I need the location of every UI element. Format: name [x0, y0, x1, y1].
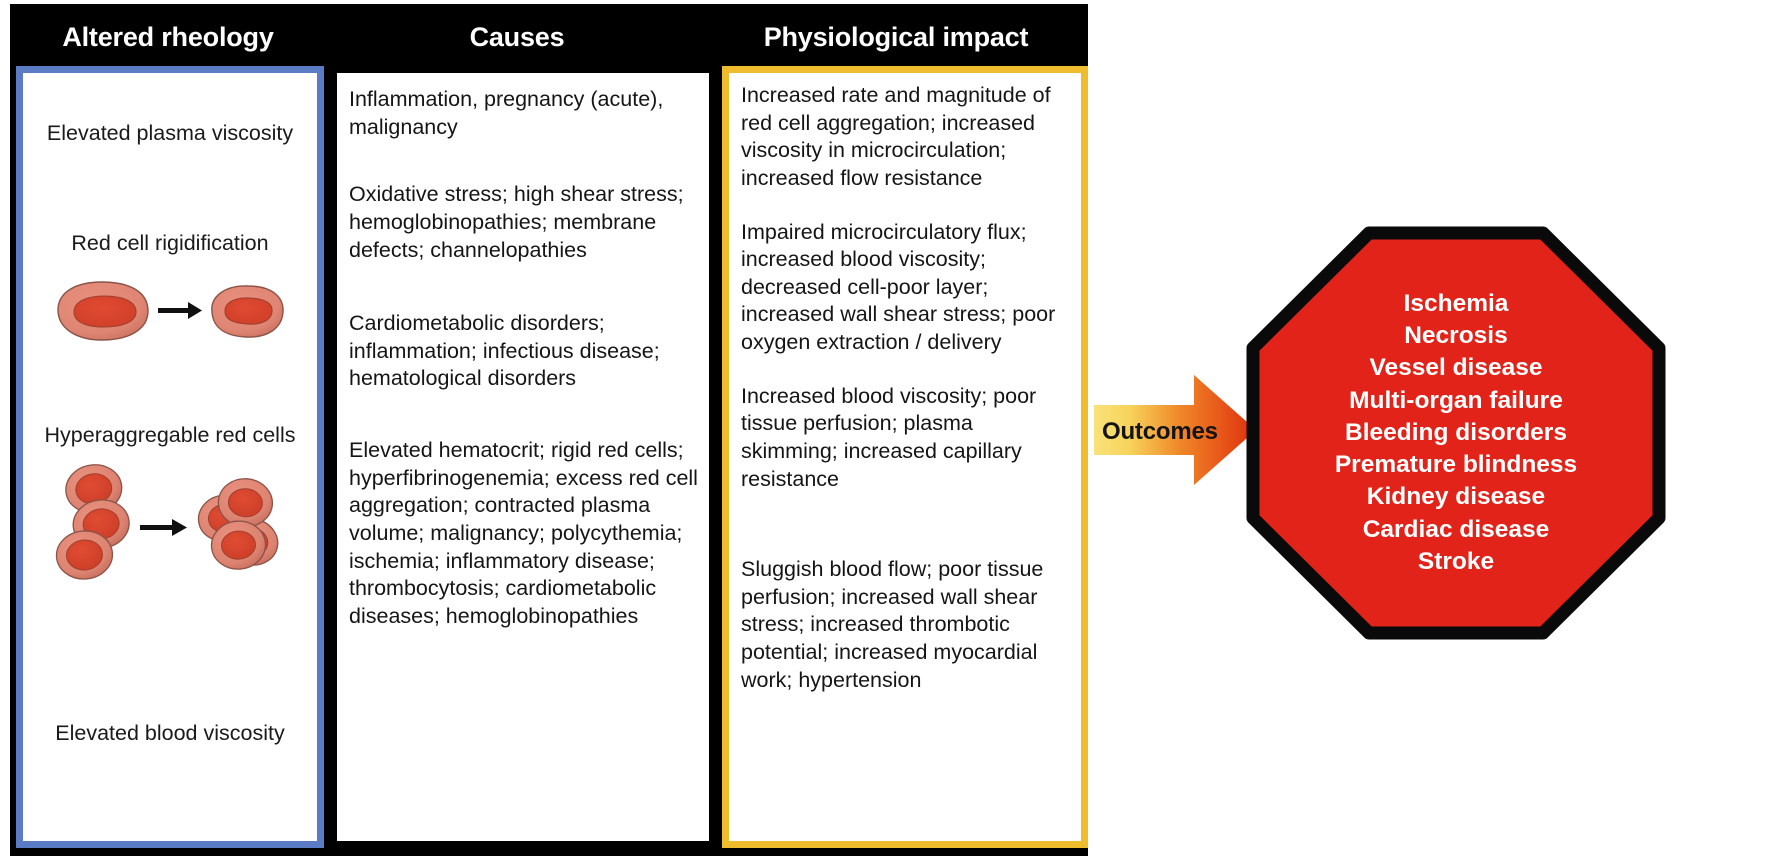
- outcomes-octagon: Ischemia Necrosis Vessel disease Multi-o…: [1246, 226, 1666, 640]
- table-inner: Altered rheology Causes Physiological im…: [14, 8, 1084, 850]
- rheology-item-hyperaggregable-red-cells: Hyperaggregable red cells: [23, 393, 317, 628]
- diagram-canvas: Altered rheology Causes Physiological im…: [0, 0, 1772, 862]
- rheology-item-red-cell-rigidification: Red cell rigidification: [23, 193, 317, 393]
- physiological-impact-item: Sluggish blood flow; poor tissue perfusi…: [741, 556, 1073, 694]
- rheology-table: Altered rheology Causes Physiological im…: [10, 4, 1088, 856]
- rbc-rigidification-icon: [50, 270, 290, 355]
- column-header-physiological-impact: Physiological impact: [712, 8, 1080, 66]
- outcomes-arrow-label: Outcomes: [1102, 418, 1218, 446]
- rheology-item-label: Elevated plasma viscosity: [47, 121, 293, 147]
- rheology-item-label: Hyperaggregable red cells: [45, 423, 296, 449]
- physiological-impact-item: Increased blood viscosity; poor tissue p…: [741, 383, 1073, 494]
- causes-list: Inflammation, pregnancy (acute), maligna…: [337, 73, 709, 841]
- rbc-aggregation-icon: [45, 463, 295, 598]
- physiological-impact-list: Increased rate and magnitude of red cell…: [729, 73, 1081, 841]
- physiological-impact-item: Increased rate and magnitude of red cell…: [741, 82, 1073, 193]
- table-header-row: Altered rheology Causes Physiological im…: [14, 8, 1084, 66]
- rheology-item-label: Red cell rigidification: [71, 231, 268, 257]
- altered-rheology-list: Elevated plasma viscosity Red cell rigid…: [23, 73, 317, 841]
- octagon-shape: [1246, 226, 1666, 640]
- rheology-item-label: Elevated blood viscosity: [55, 721, 284, 747]
- causes-item: Oxidative stress; high shear stress; hem…: [349, 181, 701, 264]
- causes-item: Inflammation, pregnancy (acute), maligna…: [349, 86, 701, 141]
- causes-item: Elevated hematocrit; rigid red cells; hy…: [349, 437, 701, 630]
- causes-item: Cardiometabolic disorders; inflammation;…: [349, 310, 701, 393]
- column-header-altered-rheology: Altered rheology: [14, 8, 322, 66]
- table-body-row: Elevated plasma viscosity Red cell rigid…: [14, 66, 1084, 850]
- column-header-causes: Causes: [322, 8, 712, 66]
- rheology-item-blood-viscosity: Elevated blood viscosity: [23, 628, 317, 839]
- cell-physiological-impact: Increased rate and magnitude of red cell…: [722, 66, 1088, 848]
- cell-causes: Inflammation, pregnancy (acute), maligna…: [330, 66, 716, 848]
- rheology-item-plasma-viscosity: Elevated plasma viscosity: [23, 75, 317, 193]
- cell-altered-rheology: Elevated plasma viscosity Red cell rigid…: [16, 66, 324, 848]
- outcomes-arrow: Outcomes: [1094, 365, 1260, 495]
- physiological-impact-item: Impaired microcirculatory flux; increase…: [741, 219, 1073, 357]
